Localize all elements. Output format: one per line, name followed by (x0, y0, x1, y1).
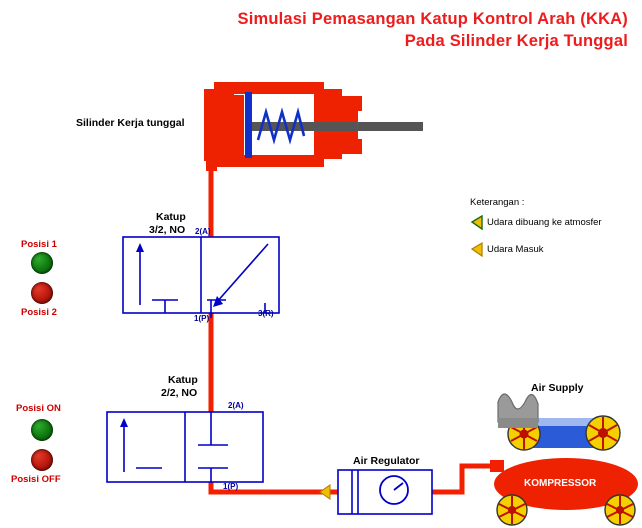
legend-title: Keterangan : (470, 197, 524, 208)
compressor-wheel-left (497, 495, 527, 525)
label-posisi-off: Posisi OFF (11, 474, 61, 485)
legend-item-0-label: Udara dibuang ke atmosfer (487, 217, 602, 228)
legend-markers (472, 216, 482, 256)
label-valve32-line2: 3/2, NO (149, 224, 185, 236)
label-posisi-on: Posisi ON (16, 403, 61, 414)
indicator-lamp-posisi-on[interactable] (31, 419, 53, 441)
label-valve22-line1: Katup (168, 374, 198, 386)
label-valve32-line1: Katup (156, 211, 186, 223)
label-cylinder: Silinder Kerja tunggal (76, 117, 185, 129)
label-valve22-line2: 2/2, NO (161, 387, 197, 399)
indicator-lamp-posisi-2[interactable] (31, 282, 53, 304)
label-air-regulator: Air Regulator (353, 455, 420, 467)
pneumatic-schematic (0, 0, 642, 528)
label-valve22-port-a: 2(A) (228, 401, 244, 410)
indicator-lamp-posisi-off[interactable] (31, 449, 53, 471)
diagram-canvas: Simulasi Pemasangan Katup Kontrol Arah (… (0, 0, 642, 528)
label-valve32-port-a: 2(A) (195, 227, 211, 236)
label-valve32-port-p: 1(P) (194, 314, 209, 323)
compressor-wheel-right (605, 495, 635, 525)
compressor-unit (490, 394, 638, 525)
indicator-lamp-posisi-1[interactable] (31, 252, 53, 274)
valve-2-2-no (107, 412, 263, 482)
valve-3-2-no (123, 237, 279, 318)
legend-item-1-label: Udara Masuk (487, 244, 544, 255)
label-posisi-1: Posisi 1 (21, 239, 57, 250)
tubing-network (211, 160, 494, 492)
label-valve22-port-p: 1(P) (223, 482, 238, 491)
label-posisi-2: Posisi 2 (21, 307, 57, 318)
label-air-supply: Air Supply (531, 382, 584, 394)
label-kompressor: KOMPRESSOR (524, 478, 596, 489)
label-valve32-port-r: 3(R) (258, 309, 274, 318)
single-acting-cylinder (204, 82, 423, 171)
compressor-pulley-right (586, 416, 620, 450)
